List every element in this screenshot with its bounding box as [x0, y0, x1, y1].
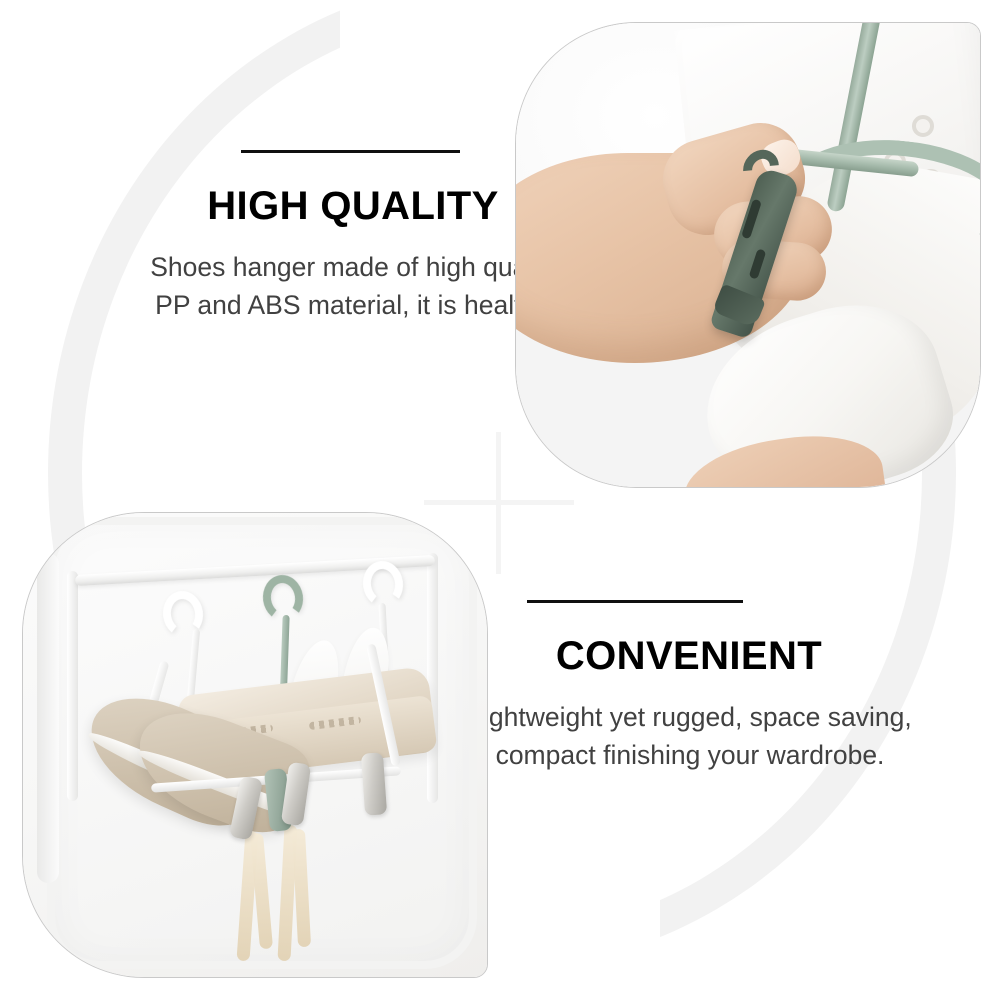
white-insole: [278, 635, 347, 752]
hand-finger: [653, 114, 814, 245]
center-divider-horizontal: [424, 500, 574, 505]
photo-rack-overview-scene: [23, 513, 487, 977]
photo-background: [23, 513, 487, 977]
green-clip-body: [709, 167, 801, 340]
hand-finger: [720, 237, 828, 302]
fingernail: [757, 135, 805, 181]
hanger-stem-sage: [279, 615, 289, 711]
sage-hanger-crossbar: [704, 140, 919, 177]
feature-block-convenient: CONVENIENT Lightweight yet rugged, space…: [430, 600, 950, 774]
green-clip-jaw: [712, 283, 766, 328]
product-photo-rack-overview: [22, 512, 488, 978]
hanger-stem-white: [185, 629, 200, 725]
hanger-clip: [361, 752, 387, 815]
hanger-arm-right: [366, 643, 401, 766]
hanger-tray: [177, 666, 438, 782]
feature-body-text: Lightweight yet rugged, space saving, co…: [430, 699, 950, 774]
shoe-eyelet-icon: [884, 151, 906, 173]
white-insole: [334, 624, 397, 742]
sage-hanger-rod: [826, 22, 883, 213]
tray-vent-holes: [221, 724, 274, 738]
product-feature-infographic: { "page": { "title": "Shoes Hanger Produ…: [0, 0, 1000, 1000]
hanger-clip: [229, 775, 263, 840]
hanger-hook-sage: [260, 572, 306, 623]
photo-background: [516, 23, 980, 487]
shoelace: [277, 825, 297, 961]
shoe-sole: [85, 728, 252, 814]
hand-palm: [515, 153, 806, 363]
shoe-eyelet-icon: [920, 169, 942, 191]
rail-post-right: [427, 553, 438, 803]
white-shoe-body: [730, 143, 981, 452]
accent-rule: [527, 600, 743, 603]
shoelace: [250, 833, 273, 950]
photo-clip-detail-scene: [516, 23, 980, 487]
sage-hanger-crossbar-tip: [697, 140, 725, 159]
green-clip-hook: [736, 143, 786, 194]
shoe-eyelet-icon: [868, 201, 890, 223]
shoe-eyelet-icon: [912, 115, 934, 137]
hanger-hook-white: [160, 588, 206, 639]
hanger-arm-left: [126, 660, 170, 786]
white-shoe-upper: [674, 22, 981, 389]
white-insole: [685, 282, 967, 488]
feature-headline: CONVENIENT: [428, 635, 950, 677]
hand-finger: [711, 193, 835, 271]
green-clip-slot: [741, 199, 762, 240]
wardrobe-panel: [47, 517, 477, 969]
shoelace: [292, 829, 311, 948]
hanger-stem-white: [378, 603, 390, 699]
accent-rule: [241, 150, 460, 153]
wardrobe-rail: [75, 555, 435, 586]
wardrobe-panel-edge: [37, 553, 59, 883]
shoelace: [236, 831, 258, 962]
shoe-sole: [136, 746, 296, 819]
hanger-hook-white: [360, 558, 406, 609]
hanger-clip: [281, 762, 311, 826]
hanger-clip-sage: [264, 768, 292, 832]
beige-shoe: [73, 677, 275, 839]
hanger-tray-lower: [196, 695, 437, 779]
tray-vent-holes: [309, 716, 362, 730]
sage-hanger-arc: [780, 129, 981, 270]
hand-lower: [679, 426, 890, 488]
green-clip-slot: [749, 248, 767, 279]
rail-post-left: [67, 571, 78, 801]
beige-shoe: [123, 694, 314, 844]
hanger-crossbar: [151, 766, 401, 792]
product-photo-clip-detail: [515, 22, 981, 488]
